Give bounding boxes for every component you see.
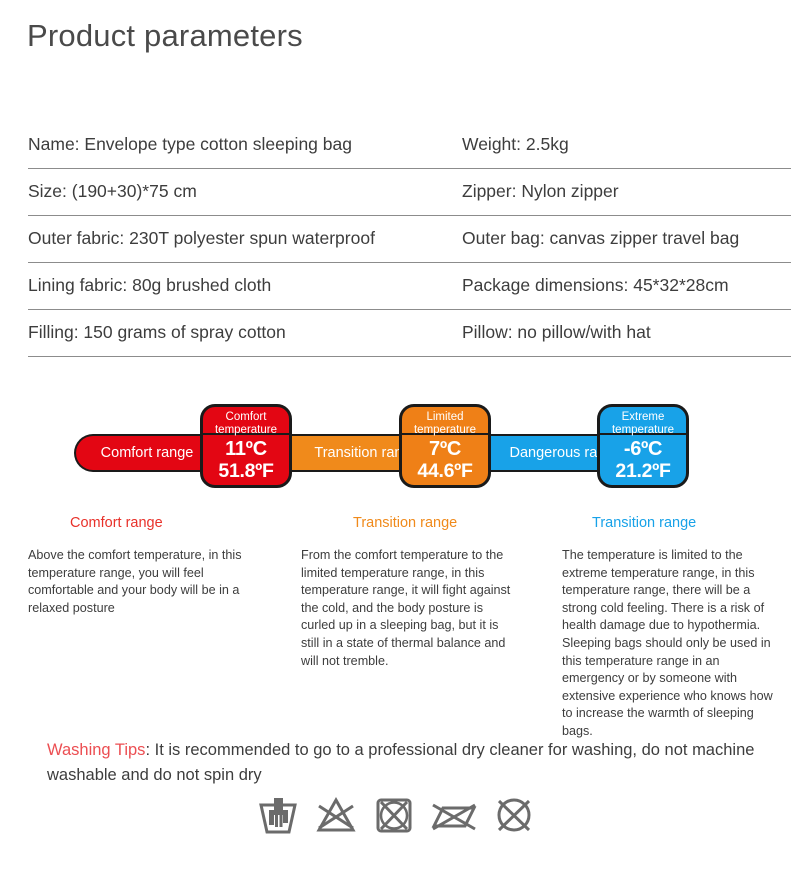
badge-label-line1: Comfort [203,411,289,424]
badge-values: -6ºC 21.2ºF [600,435,686,482]
description-columns: Comfort range Above the comfort temperat… [28,515,788,741]
temperature-bar: Comfort range Transition range Dangerous… [74,434,686,472]
table-row: Filling: 150 grams of spray cotton Pillo… [28,310,791,357]
description-column-comfort: Comfort range Above the comfort temperat… [28,515,281,741]
description-body: From the comfort temperature to the limi… [301,547,520,670]
washing-tips: Washing Tips: It is recommended to go to… [47,738,777,788]
spec-cell-name: Name: Envelope type cotton sleeping bag [28,136,462,154]
description-column-extreme: Transition range The temperature is limi… [534,515,787,741]
badge-label-line2: temperature [203,424,289,437]
badge-celsius: 7ºC [402,438,488,460]
badge-label-line1: Limited [402,411,488,424]
badge-label-line2: temperature [600,424,686,437]
spec-cell-zipper: Zipper: Nylon zipper [462,183,791,201]
badge-values: 7ºC 44.6ºF [402,435,488,482]
washing-tips-label: Washing Tips [47,741,145,759]
description-heading: Transition range [562,515,773,531]
washing-tips-text: : It is recommended to go to a professio… [47,741,754,784]
description-column-transition: Transition range From the comfort temper… [281,515,534,741]
badge-label: Limited temperature [402,407,488,435]
spec-cell-outer-fabric: Outer fabric: 230T polyester spun waterp… [28,230,462,248]
hand-wash-icon [255,792,301,838]
do-not-bleach-icon [313,792,359,838]
spec-cell-weight: Weight: 2.5kg [462,136,791,154]
badge-fahrenheit: 21.2ºF [600,460,686,482]
description-body: The temperature is limited to the extrem… [562,547,773,741]
spec-cell-filling: Filling: 150 grams of spray cotton [28,324,462,342]
spec-cell-outer-bag: Outer bag: canvas zipper travel bag [462,230,791,248]
badge-label: Comfort temperature [203,407,289,435]
description-heading: Comfort range [28,515,267,531]
badge-label-line1: Extreme [600,411,686,424]
badge-comfort-temperature: Comfort temperature 11ºC 51.8ºF [200,404,292,488]
spec-cell-lining-fabric: Lining fabric: 80g brushed cloth [28,277,462,295]
badge-celsius: -6ºC [600,438,686,460]
care-symbols [255,792,537,838]
spec-cell-package-dims: Package dimensions: 45*32*28cm [462,277,791,295]
badge-fahrenheit: 44.6ºF [402,460,488,482]
table-row: Size: (190+30)*75 cm Zipper: Nylon zippe… [28,169,791,216]
badge-extreme-temperature: Extreme temperature -6ºC 21.2ºF [597,404,689,488]
badge-label-line2: temperature [402,424,488,437]
table-row: Name: Envelope type cotton sleeping bag … [28,122,791,169]
temperature-scale: Comfort range Transition range Dangerous… [0,396,800,496]
badge-values: 11ºC 51.8ºF [203,435,289,482]
description-body: Above the comfort temperature, in this t… [28,547,267,617]
do-not-tumble-dry-icon [371,792,417,838]
table-row: Lining fabric: 80g brushed cloth Package… [28,263,791,310]
spec-cell-size: Size: (190+30)*75 cm [28,183,462,201]
do-not-wring-icon [429,792,479,838]
table-row: Outer fabric: 230T polyester spun waterp… [28,216,791,263]
bar-segment-label: Comfort range [101,445,194,461]
page-title: Product parameters [27,18,303,54]
badge-limited-temperature: Limited temperature 7ºC 44.6ºF [399,404,491,488]
description-heading: Transition range [301,515,520,531]
badge-celsius: 11ºC [203,438,289,460]
spec-cell-pillow: Pillow: no pillow/with hat [462,324,791,342]
do-not-dry-clean-icon [491,792,537,838]
badge-label: Extreme temperature [600,407,686,435]
badge-fahrenheit: 51.8ºF [203,460,289,482]
spec-table: Name: Envelope type cotton sleeping bag … [28,122,791,357]
